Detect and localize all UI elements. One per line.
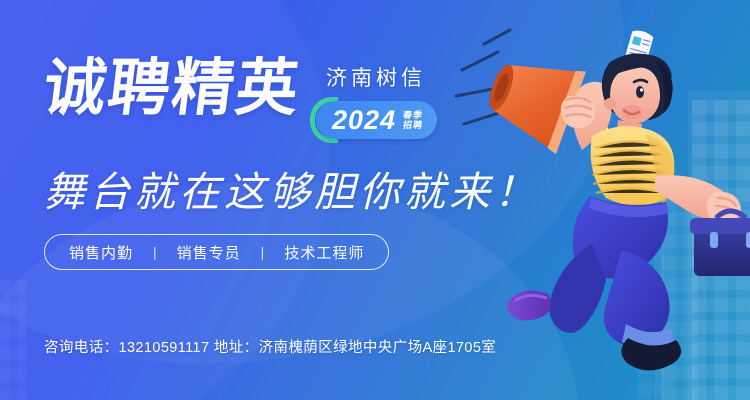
badge-subtitle-line2: 招聘 <box>402 120 423 130</box>
banner-content: 诚聘精英 济南树信 2024 春季 招聘 舞台就在这够胆你就来！ 销售内勤 <box>0 0 750 400</box>
headline-row: 诚聘精英 济南树信 2024 春季 招聘 <box>44 58 437 139</box>
badge-subtitle-line1: 春季 <box>402 110 423 120</box>
page-title: 诚聘精英 <box>40 58 304 120</box>
position-separator-2: | <box>261 244 265 260</box>
badge-pill: 2024 春季 招聘 <box>316 101 437 139</box>
contact-info: 咨询电话：13210591117 地址：济南槐荫区绿地中央广场A座1705室 <box>44 336 496 357</box>
position-separator-1: | <box>153 244 157 260</box>
year-badge: 2024 春季 招聘 <box>316 101 437 139</box>
positions-pill: 销售内勤 | 销售专员 | 技术工程师 <box>44 234 389 270</box>
position-item-1: 销售内勤 <box>69 242 133 263</box>
subheadline: 舞台就在这够胆你就来！ <box>44 158 539 218</box>
position-item-2: 销售专员 <box>177 242 241 263</box>
position-item-3: 技术工程师 <box>284 242 364 263</box>
badge-column: 济南树信 2024 春季 招聘 <box>316 62 437 139</box>
badge-subtitle: 春季 招聘 <box>403 110 423 131</box>
company-name: 济南树信 <box>316 62 426 92</box>
recruitment-banner: 诚聘精英 济南树信 2024 春季 招聘 舞台就在这够胆你就来！ 销售内勤 <box>0 0 750 400</box>
badge-year: 2024 <box>332 107 396 134</box>
